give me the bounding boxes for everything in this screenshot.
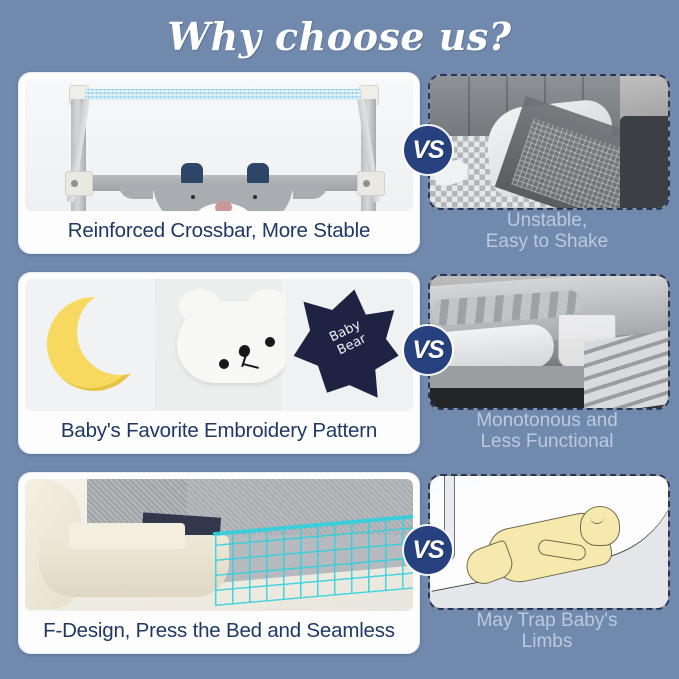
infographic-page: Why choose us? (0, 0, 679, 679)
dark-furniture (620, 116, 668, 210)
crossbar-bracket-left (65, 171, 93, 196)
baby-head-icon (580, 506, 620, 546)
comparison-row-f-design: F-Design, Press the Bed and Seamless VS … (0, 472, 679, 662)
crossbar-bracket-right (357, 171, 385, 196)
grayscale-photo-plain-bed-rail (428, 274, 670, 410)
pillow-mouth-line (243, 363, 259, 368)
top-mesh-rail (85, 89, 361, 100)
con-caption-embroidery: Monotonous and Less Functional (428, 410, 666, 452)
swatch-star-pillow: Baby Bear (286, 279, 413, 411)
bear-face-pillow-icon (177, 301, 291, 383)
bear-nose-icon (215, 201, 232, 211)
vs-badge-f-design: VS (404, 526, 452, 574)
pro-card-embroidery: Baby Bear Baby's Favorite Embroidery Pat… (18, 272, 420, 454)
bear-ear-left-icon (181, 163, 203, 185)
con-card-embroidery: Monotonous and Less Functional (428, 272, 666, 462)
star-pillow-icon: Baby Bear (287, 282, 407, 402)
pro-card-f-design: F-Design, Press the Bed and Seamless (18, 472, 420, 654)
comparison-row-embroidery: Baby Bear Baby's Favorite Embroidery Pat… (0, 272, 679, 462)
swatch-moon-pillow (25, 279, 151, 411)
illustration-baby-trapped-in-gap (428, 474, 670, 610)
comparison-row-stability: Reinforced Crossbar, More Stable VS Unst… (0, 72, 679, 262)
grayscale-photo-unstable-bed-rail (428, 74, 670, 210)
stairs (584, 330, 668, 410)
pro-caption-stability: Reinforced Crossbar, More Stable (19, 211, 419, 251)
con-card-f-design: May Trap Baby's Limbs (428, 472, 666, 662)
bear-ear-right-icon (247, 163, 269, 185)
pro-caption-embroidery: Baby's Favorite Embroidery Pattern (19, 411, 419, 451)
swatch-bear-pillow (155, 279, 281, 411)
vs-badge-embroidery: VS (404, 326, 452, 374)
pro-caption-f-design: F-Design, Press the Bed and Seamless (19, 611, 419, 651)
page-title: Why choose us? (0, 14, 679, 59)
con-caption-f-design: May Trap Baby's Limbs (428, 610, 666, 652)
con-caption-stability: Unstable, Easy to Shake (428, 210, 666, 252)
pro-card-stability: Reinforced Crossbar, More Stable (18, 72, 420, 254)
bear-eye-left-icon (191, 195, 195, 199)
bear-eye-right-icon (253, 195, 257, 199)
pillow-eye-right-icon (265, 337, 275, 347)
pillow-swatches-moon-bear-star: Baby Bear (25, 279, 413, 411)
pillow-eye-left-icon (219, 359, 229, 369)
vs-badge-stability: VS (404, 126, 452, 174)
con-card-stability: Unstable, Easy to Shake (428, 72, 666, 262)
bed-rail-reinforced-crossbar-illustration (25, 79, 413, 211)
f-design-base-closeup-with-cyan-mesh (25, 479, 413, 611)
moon-pillow-icon (47, 297, 141, 391)
star-pillow-label: Baby Bear (306, 307, 391, 369)
f-design-arm (69, 523, 185, 549)
